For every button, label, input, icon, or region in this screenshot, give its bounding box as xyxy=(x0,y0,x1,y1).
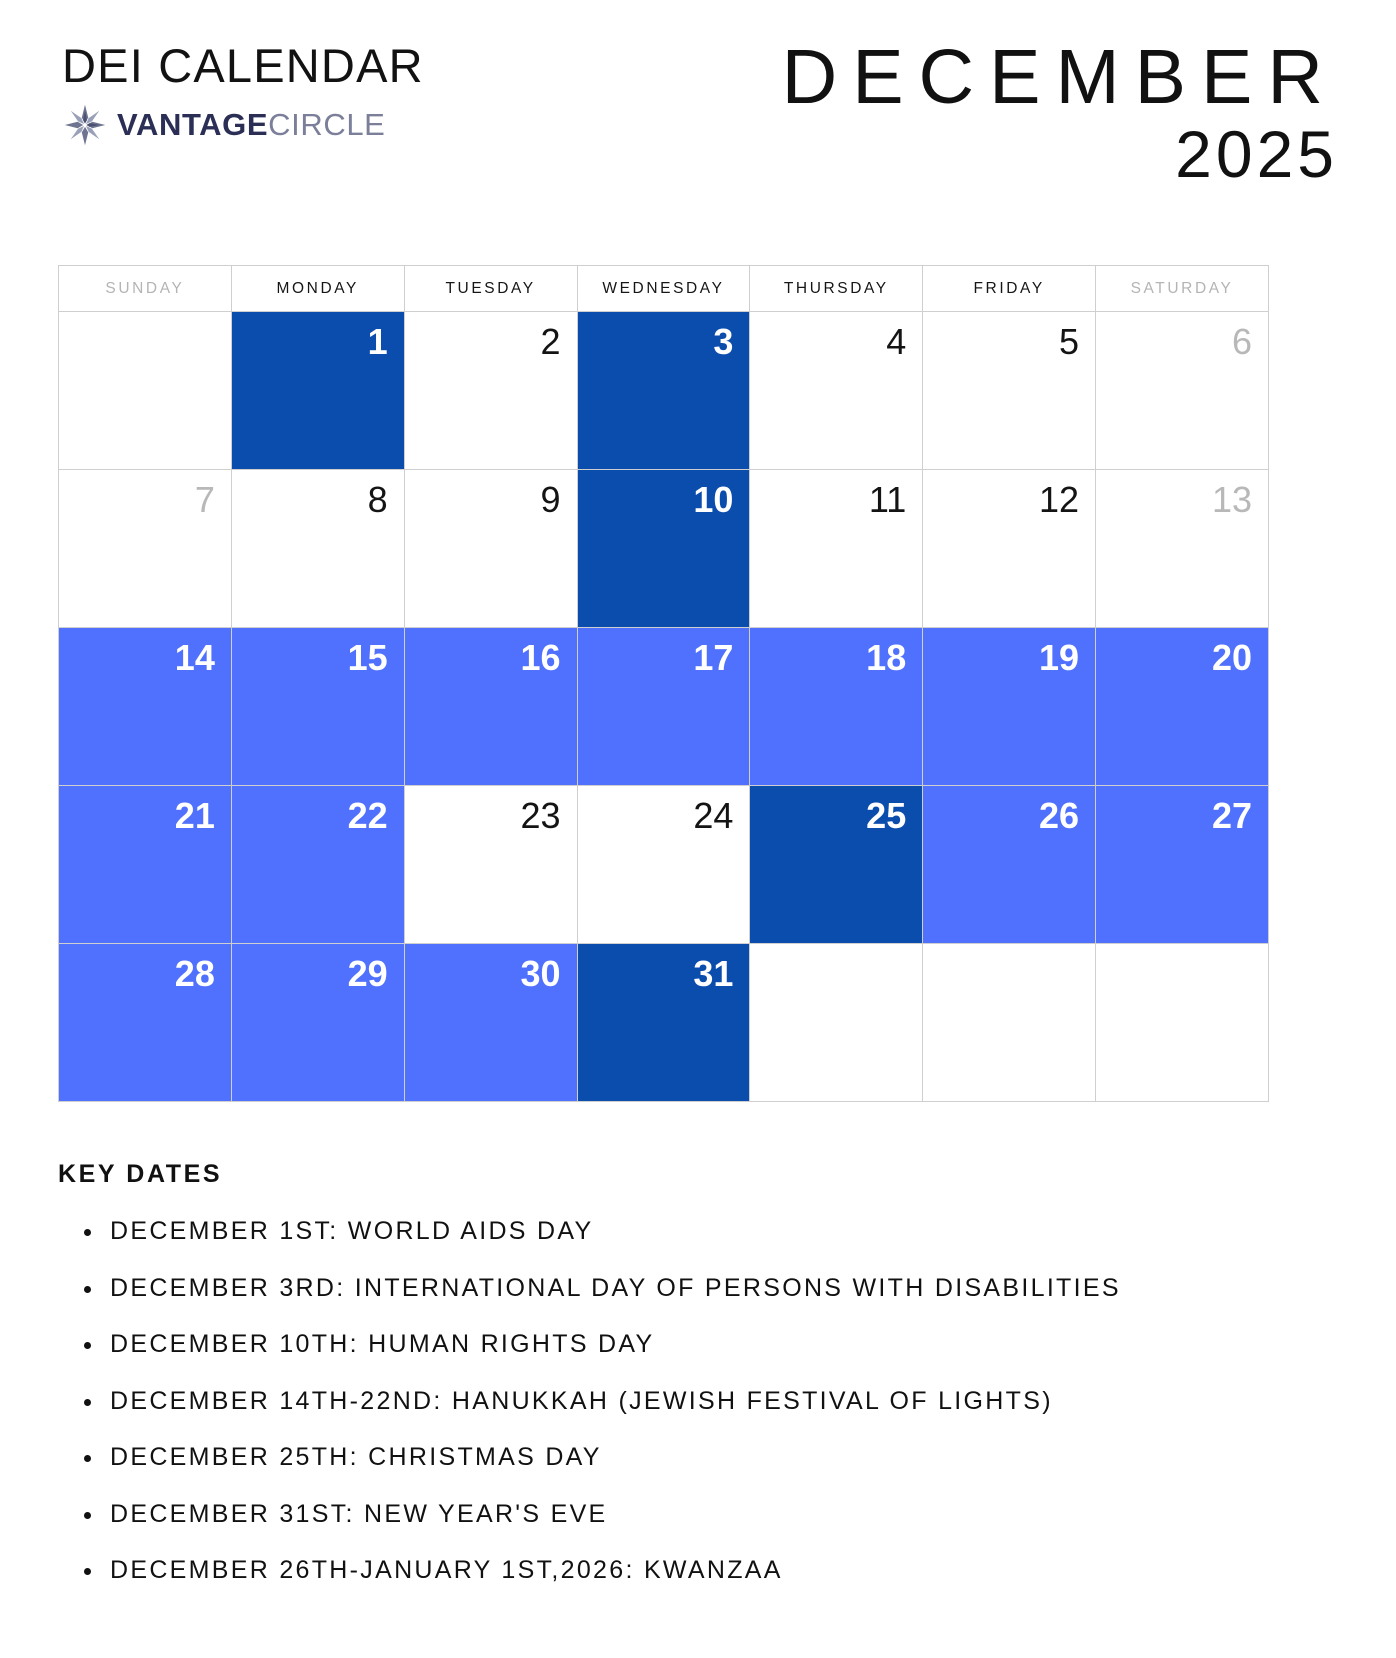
weekday-header-row: SUNDAY MONDAY TUESDAY WEDNESDAY THURSDAY… xyxy=(59,266,1269,312)
weekday-header-wednesday: WEDNESDAY xyxy=(577,266,750,312)
calendar-empty-cell xyxy=(750,944,923,1102)
weekday-header-thursday: THURSDAY xyxy=(750,266,923,312)
calendar-day-cell[interactable]: 14 xyxy=(59,628,232,786)
day-number: 21 xyxy=(59,786,231,834)
logo-word-circle: CIRCLE xyxy=(268,107,385,142)
key-date-item: DECEMBER 25TH: CHRISTMAS DAY xyxy=(58,1437,1276,1478)
day-number: 6 xyxy=(1096,312,1268,360)
month-title-block: DECEMBER 2025 xyxy=(767,36,1338,190)
calendar-day-cell[interactable]: 20 xyxy=(1096,628,1269,786)
day-number: 26 xyxy=(923,786,1095,834)
calendar-week-row: 21222324252627 xyxy=(59,786,1269,944)
calendar-day-cell[interactable]: 19 xyxy=(923,628,1096,786)
calendar-day-cell[interactable]: 28 xyxy=(59,944,232,1102)
day-number: 27 xyxy=(1096,786,1268,834)
calendar-day-cell[interactable]: 9 xyxy=(404,470,577,628)
key-dates-list: DECEMBER 1ST: WORLD AIDS DAYDECEMBER 3RD… xyxy=(58,1211,1338,1591)
calendar-empty-cell xyxy=(923,944,1096,1102)
calendar-week-row: 78910111213 xyxy=(59,470,1269,628)
calendar-day-cell[interactable]: 15 xyxy=(231,628,404,786)
calendar-day-cell[interactable]: 2 xyxy=(404,312,577,470)
calendar-day-cell[interactable]: 18 xyxy=(750,628,923,786)
day-number: 3 xyxy=(578,312,750,360)
calendar-day-cell[interactable]: 3 xyxy=(577,312,750,470)
calendar-body: 1234567891011121314151617181920212223242… xyxy=(59,312,1269,1102)
weekday-header-monday: MONDAY xyxy=(231,266,404,312)
calendar-week-row: 123456 xyxy=(59,312,1269,470)
day-number: 20 xyxy=(1096,628,1268,676)
day-number: 13 xyxy=(1096,470,1268,518)
brand-block: DEI CALENDAR xyxy=(62,36,424,148)
calendar-day-cell[interactable]: 23 xyxy=(404,786,577,944)
day-number: 1 xyxy=(232,312,404,360)
logo-wordmark: VANTAGECIRCLE xyxy=(117,109,385,140)
day-number: 2 xyxy=(405,312,577,360)
day-number: 28 xyxy=(59,944,231,992)
calendar-day-cell[interactable]: 8 xyxy=(231,470,404,628)
calendar-day-cell[interactable]: 29 xyxy=(231,944,404,1102)
day-number: 24 xyxy=(578,786,750,834)
key-date-item: DECEMBER 1ST: WORLD AIDS DAY xyxy=(58,1211,1276,1252)
calendar-day-cell[interactable]: 13 xyxy=(1096,470,1269,628)
day-number: 30 xyxy=(405,944,577,992)
calendar-day-cell[interactable]: 16 xyxy=(404,628,577,786)
calendar-day-cell[interactable]: 27 xyxy=(1096,786,1269,944)
day-number: 17 xyxy=(578,628,750,676)
calendar-day-cell[interactable]: 12 xyxy=(923,470,1096,628)
calendar-day-cell[interactable]: 11 xyxy=(750,470,923,628)
key-dates-section: KEY DATES DECEMBER 1ST: WORLD AIDS DAYDE… xyxy=(58,1160,1338,1591)
key-dates-title: KEY DATES xyxy=(58,1160,1338,1189)
calendar-day-cell[interactable]: 5 xyxy=(923,312,1096,470)
page-title: DEI CALENDAR xyxy=(62,42,424,90)
day-number: 15 xyxy=(232,628,404,676)
page-header: DEI CALENDAR xyxy=(0,0,1396,210)
calendar-week-row: 14151617181920 xyxy=(59,628,1269,786)
calendar-day-cell[interactable]: 17 xyxy=(577,628,750,786)
day-number: 16 xyxy=(405,628,577,676)
calendar-day-cell[interactable]: 6 xyxy=(1096,312,1269,470)
calendar-day-cell[interactable]: 7 xyxy=(59,470,232,628)
calendar-grid: SUNDAY MONDAY TUESDAY WEDNESDAY THURSDAY… xyxy=(58,265,1269,1102)
day-number: 5 xyxy=(923,312,1095,360)
key-date-item: DECEMBER 14TH-22ND: HANUKKAH (JEWISH FES… xyxy=(58,1381,1276,1422)
calendar-week-row: 28293031 xyxy=(59,944,1269,1102)
key-date-item: DECEMBER 31ST: NEW YEAR'S EVE xyxy=(58,1494,1276,1535)
key-date-item: DECEMBER 10TH: HUMAN RIGHTS DAY xyxy=(58,1324,1276,1365)
weekday-header-tuesday: TUESDAY xyxy=(404,266,577,312)
month-name: DECEMBER xyxy=(767,38,1338,117)
day-number: 9 xyxy=(405,470,577,518)
calendar-day-cell[interactable]: 24 xyxy=(577,786,750,944)
calendar-day-cell[interactable]: 25 xyxy=(750,786,923,944)
calendar-day-cell[interactable]: 30 xyxy=(404,944,577,1102)
calendar-day-cell[interactable]: 26 xyxy=(923,786,1096,944)
calendar-day-cell[interactable]: 1 xyxy=(231,312,404,470)
month-year: 2025 xyxy=(767,119,1338,190)
starburst-icon xyxy=(62,102,108,148)
day-number: 11 xyxy=(750,470,922,518)
calendar-empty-cell xyxy=(59,312,232,470)
day-number: 8 xyxy=(232,470,404,518)
day-number: 14 xyxy=(59,628,231,676)
day-number: 22 xyxy=(232,786,404,834)
key-date-item: DECEMBER 3RD: INTERNATIONAL DAY OF PERSO… xyxy=(58,1268,1276,1309)
day-number: 25 xyxy=(750,786,922,834)
calendar-day-cell[interactable]: 31 xyxy=(577,944,750,1102)
calendar-day-cell[interactable]: 21 xyxy=(59,786,232,944)
day-number: 10 xyxy=(578,470,750,518)
day-number: 12 xyxy=(923,470,1095,518)
weekday-header-saturday: SATURDAY xyxy=(1096,266,1269,312)
weekday-header-sunday: SUNDAY xyxy=(59,266,232,312)
day-number: 29 xyxy=(232,944,404,992)
day-number: 7 xyxy=(59,470,231,518)
vantage-circle-logo: VANTAGECIRCLE xyxy=(62,102,424,148)
dei-calendar-page: DEI CALENDAR xyxy=(0,0,1396,1658)
logo-word-vantage: VANTAGE xyxy=(117,107,268,142)
calendar-day-cell[interactable]: 4 xyxy=(750,312,923,470)
key-date-item: DECEMBER 26TH-JANUARY 1ST,2026: KWANZAA xyxy=(58,1550,1276,1591)
calendar-day-cell[interactable]: 22 xyxy=(231,786,404,944)
day-number: 23 xyxy=(405,786,577,834)
day-number: 4 xyxy=(750,312,922,360)
weekday-header-friday: FRIDAY xyxy=(923,266,1096,312)
day-number: 19 xyxy=(923,628,1095,676)
day-number: 18 xyxy=(750,628,922,676)
calendar-day-cell[interactable]: 10 xyxy=(577,470,750,628)
calendar-empty-cell xyxy=(1096,944,1269,1102)
day-number: 31 xyxy=(578,944,750,992)
